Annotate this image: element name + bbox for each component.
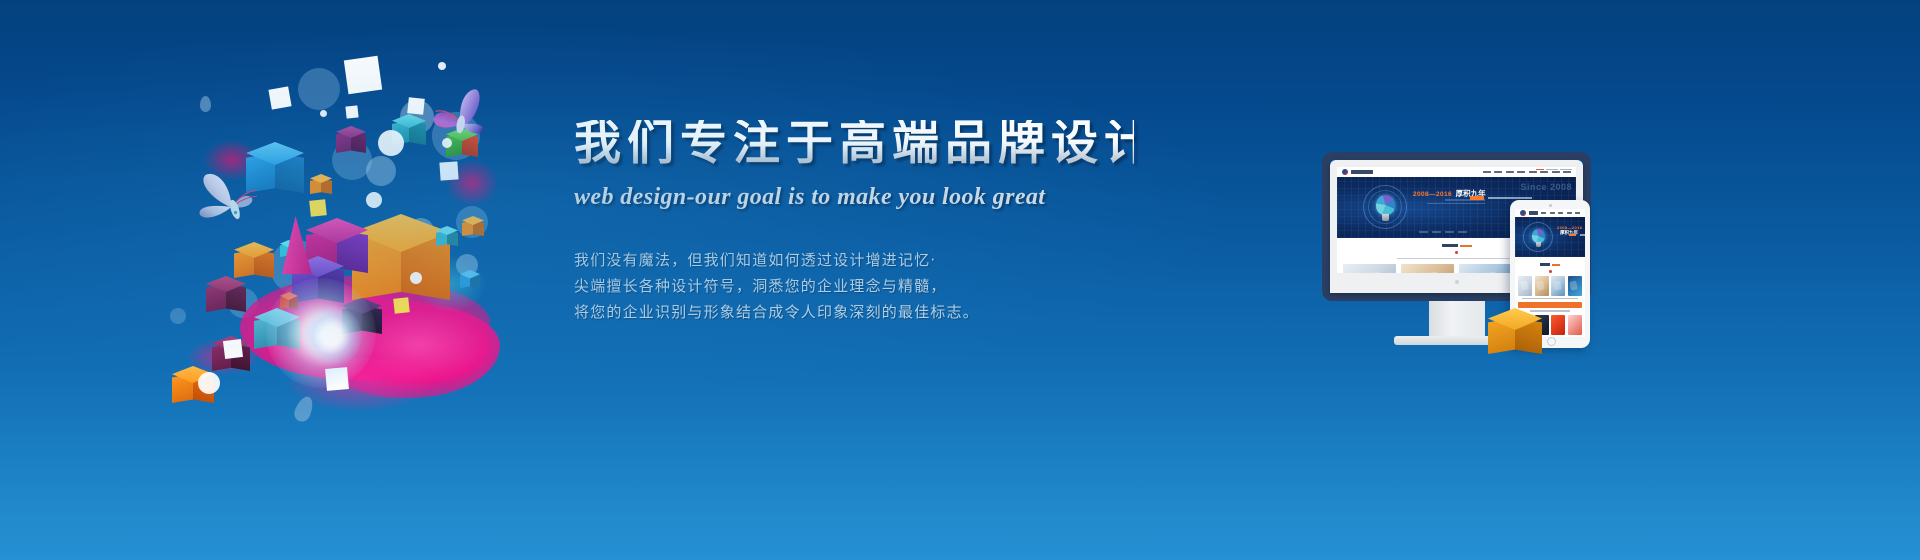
yellow-square [309,199,327,217]
light-burst [302,306,362,366]
hero-cta-button[interactable] [1470,196,1484,200]
nav-link[interactable] [1529,171,1537,174]
site-logo-text [1351,170,1373,174]
language-switch[interactable] [1560,169,1572,171]
hero-cta-button[interactable] [1569,234,1576,236]
service-card[interactable] [1459,264,1512,273]
carousel-dot[interactable] [1445,231,1454,233]
nav-link[interactable] [1517,171,1525,174]
white-circle [198,372,220,394]
site-nav-links [1541,212,1580,215]
site-hero-mobile: 2008—2016 厚积九年 [1515,217,1585,257]
email-info [1546,169,1558,171]
service-cards [1515,273,1585,296]
white-square [344,56,382,94]
cube-maroon [206,276,246,318]
white-square [268,86,291,109]
carousel-dot[interactable] [1458,231,1467,233]
white-circle [438,62,446,70]
hero-text-block: 2008—2016 厚积九年 [1413,188,1487,206]
nav-link[interactable] [1494,171,1502,174]
site-logo-text [1529,211,1538,215]
orange-cube-decoration [1488,308,1542,362]
body-line-2: 尖端擅长各种设计符号，洞悉您的企业理念与精髓， [574,273,1134,299]
site-navbar-mobile [1515,209,1585,217]
white-square [345,105,358,118]
bokeh-circle [366,156,396,186]
nav-link[interactable] [1540,171,1548,174]
site-topbar-info [1536,169,1572,171]
section-heading [1515,257,1585,267]
bulb-glass [1376,195,1395,215]
body-line-1: 我们没有魔法，但我们知道如何透过设计增进记忆· [574,247,1134,273]
service-card[interactable] [1343,264,1396,273]
page-title: 我们专注于高端品牌设计 [574,120,1134,168]
cube-tiny-orange [310,174,332,198]
site-logo-icon [1342,169,1348,175]
carousel-dot[interactable] [1419,231,1428,233]
site-logo-icon [1520,210,1526,216]
bulb-base [1382,214,1389,221]
cube-purple [336,126,366,158]
nav-link[interactable] [1567,212,1572,215]
white-circle [410,272,422,284]
bulb-base [1536,242,1541,247]
phone-number [1536,169,1544,171]
banner-copy: 我们专注于高端品牌设计 web design-our goal is to ma… [574,120,1134,325]
hero-cta-text [1488,197,1532,200]
lightbulb-network-icon [1363,185,1407,231]
site-nav-links [1483,171,1572,174]
page-subtitle: web design-our goal is to make you look … [574,184,1134,211]
lightbulb-network-icon [1523,222,1553,254]
section-heading-en [1460,245,1472,247]
nav-link[interactable] [1483,171,1491,174]
nav-link[interactable] [1552,171,1560,174]
site-navbar [1337,167,1576,177]
nav-link[interactable] [1541,212,1546,215]
service-card[interactable] [1535,276,1549,296]
case-card[interactable] [1551,315,1565,335]
hero-year-range: 2008—2016 [1413,191,1452,198]
hero-cta-text [1580,234,1585,236]
body-line-3: 将您的企业识别与形象结合成令人印象深刻的最佳标志。 [574,299,1134,325]
section-accent-dot [1455,251,1458,254]
bokeh-circle [200,96,211,112]
nav-link[interactable] [1506,171,1514,174]
white-circle [366,192,382,208]
hero-watermark: Since 2008 [1520,182,1572,192]
nav-link[interactable] [1558,212,1563,215]
body-copy: 我们没有魔法，但我们知道如何透过设计增进记忆· 尖端擅长各种设计符号，洞悉您的企… [574,247,1134,325]
service-card[interactable] [1401,264,1454,273]
device-mockup: Since 2008 2008—2016 厚积九年 [1330,160,1650,400]
yellow-square [393,297,409,313]
case-card[interactable] [1568,315,1582,335]
service-card[interactable] [1518,276,1532,296]
section-heading-cn [1540,263,1550,266]
nav-link[interactable] [1575,212,1580,215]
card-caption [1522,298,1578,300]
cube-tiny-orange-right [462,216,484,240]
bokeh-circle [298,68,340,110]
white-circle [378,130,404,156]
cube-tiny-teal-right [436,226,458,250]
butterfly-icon [188,166,262,237]
nav-link[interactable] [1563,171,1571,174]
white-square [439,161,458,180]
abstract-artwork [170,40,590,470]
white-circle [320,110,327,117]
section-heading-cn [1442,244,1458,247]
section-heading-en [1552,264,1560,266]
carousel-dot[interactable] [1432,231,1441,233]
service-card[interactable] [1568,276,1582,296]
nav-link[interactable] [1550,212,1555,215]
hero-detail-line [1427,203,1485,205]
hero-text-block: 2008—2016 厚积九年 [1557,225,1585,236]
hero-carousel-dots[interactable] [1419,231,1467,233]
cube-tiny-blue-bottom [460,270,480,292]
service-card[interactable] [1551,276,1565,296]
bokeh-circle [170,308,186,324]
white-square [223,339,243,359]
bulb-glass [1532,229,1545,243]
hero-banner: 我们专注于高端品牌设计 web design-our goal is to ma… [0,0,1920,560]
